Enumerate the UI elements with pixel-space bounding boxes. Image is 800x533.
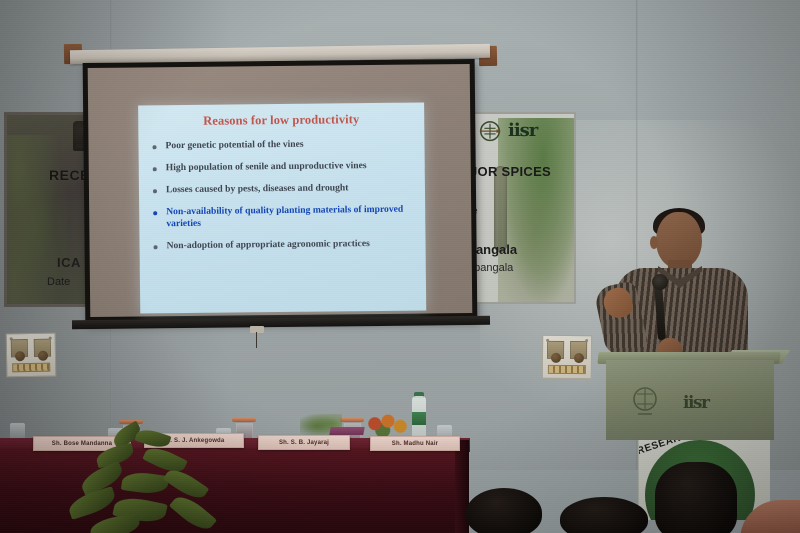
iisr-logo-text: iisr	[508, 120, 538, 142]
slide-bullet-text: Poor genetic potential of the vines	[165, 139, 303, 152]
plate-screw	[10, 337, 13, 340]
left-banner-date: Date	[47, 276, 70, 288]
audience-head	[655, 462, 737, 533]
slide-bullet: Non-adoption of appropriate agronomic pr…	[151, 237, 425, 252]
bullet-dot-icon	[153, 145, 157, 149]
photograph-scene: RECE ICA Date iisr JOR SPICES e pangala …	[0, 0, 800, 533]
slide-bullet-text: High population of senile and unproducti…	[166, 160, 367, 174]
plate-screw	[585, 339, 588, 342]
projection-screen: Reasons for low productivity Poor geneti…	[83, 59, 478, 325]
plate-screw	[49, 337, 52, 340]
dais-table-skirt	[0, 448, 468, 533]
right-wall-banner: iisr JOR SPICES e pangala ppangala	[466, 112, 576, 304]
bottle-label	[412, 412, 426, 425]
switch-row[interactable]	[548, 365, 586, 374]
flower-arrangement	[366, 412, 410, 438]
right-banner-title: JOR SPICES	[470, 164, 551, 179]
plate-screw	[546, 339, 549, 342]
iisr-logo-text: iisr	[683, 393, 708, 413]
slide-bullet: High population of senile and unproducti…	[151, 159, 425, 174]
nameplate: Sh. S. B. Jayaraj	[258, 435, 350, 450]
slide-bullet: Losses caused by pests, diseases and dro…	[151, 181, 425, 196]
icar-logo-icon	[476, 120, 504, 146]
nameplate: Sh. Madhu Nair	[370, 436, 460, 451]
slide-bullet: Poor genetic potential of the vines	[150, 137, 424, 152]
nameplate: Sh. Bose Mandanna	[33, 436, 131, 451]
slide-bullet-highlighted: Non-availability of quality planting mat…	[151, 203, 425, 230]
nameplate: Dr. S. J. Ankegowda	[144, 433, 244, 448]
switch-knob[interactable]	[551, 353, 561, 363]
slide-bullet-text: Losses caused by pests, diseases and dro…	[166, 182, 349, 196]
audience-head	[466, 488, 542, 533]
slide-bullet-list: Poor genetic potential of the vines High…	[150, 137, 425, 252]
screen-pull-handle[interactable]	[250, 326, 264, 333]
bullet-dot-icon	[154, 245, 158, 249]
booklet-on-table	[329, 427, 364, 435]
switch-row[interactable]	[12, 363, 50, 373]
slide-title: Reasons for low productivity	[138, 111, 424, 129]
switch-knob[interactable]	[38, 351, 48, 361]
icar-logo-icon	[630, 386, 660, 418]
banner-pepper-photo	[498, 118, 576, 302]
bullet-dot-icon	[153, 211, 157, 215]
slide-bullet-text: Non-adoption of appropriate agronomic pr…	[166, 238, 369, 252]
slide-bullet-text: Non-availability of quality planting mat…	[166, 204, 416, 231]
switch-panel-left[interactable]	[6, 333, 57, 378]
switch-knob[interactable]	[574, 353, 584, 363]
drinking-tumbler	[10, 423, 25, 439]
screen-surface: Reasons for low productivity Poor geneti…	[88, 64, 473, 317]
speaker-and-podium: iisr	[598, 200, 800, 440]
bullet-dot-icon	[153, 167, 157, 171]
left-banner-org: ICA	[57, 255, 81, 270]
switch-panel-right[interactable]	[542, 335, 592, 379]
speaker-ear	[650, 236, 658, 249]
projected-slide: Reasons for low productivity Poor geneti…	[138, 102, 426, 313]
microphone-icon	[652, 274, 668, 290]
bullet-dot-icon	[153, 189, 157, 193]
switch-knob[interactable]	[15, 351, 25, 361]
audience-head	[560, 497, 648, 533]
